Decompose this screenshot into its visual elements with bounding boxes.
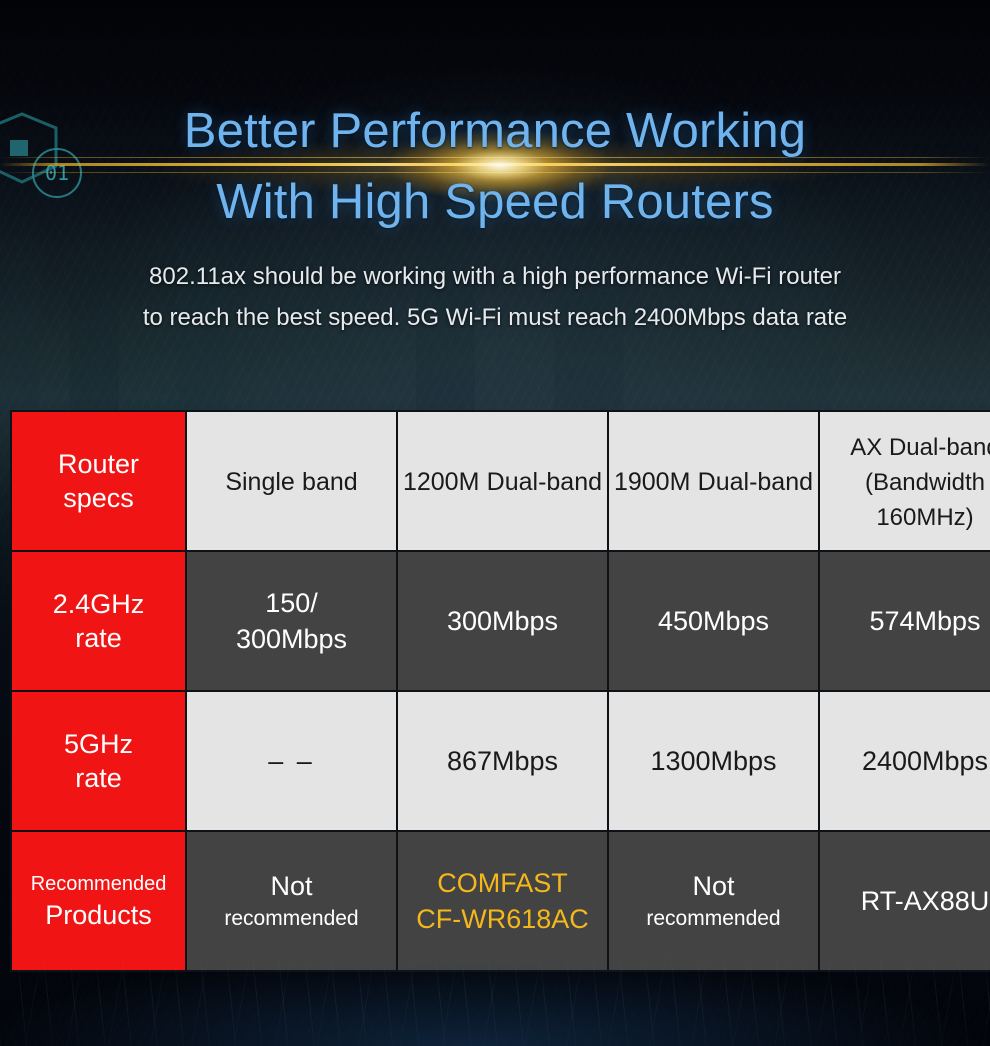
cell-24ghz-ax: 574Mbps [819,551,990,691]
column-header-line-2: band [302,468,358,496]
column-header-1200m-dual-band: 1200M Dual-band [397,411,608,551]
background-bottom-streaks [0,951,990,1046]
cell-line-1: Not [613,868,814,904]
column-header-ax-dual-band: AX Dual-band (Bandwidth 160MHz) [819,411,990,551]
hero-heading: Better Performance Working With High Spe… [0,96,990,238]
table-row: 5GHz rate – – 867Mbps 1300Mbps 2400Mbps [11,691,990,831]
hero-subtitle: 802.11ax should be working with a high p… [0,256,990,338]
cell-5ghz-1200m: 867Mbps [397,691,608,831]
cell-line-1: – – [191,743,392,779]
cell-line-1: 867Mbps [402,743,603,779]
cell-24ghz-1200m: 300Mbps [397,551,608,691]
corner-label-line-1: Router [16,447,181,481]
column-header-line-1: Single [225,468,295,496]
cell-5ghz-1900m: 1300Mbps [608,691,819,831]
row-label-line-1: 5GHz [16,727,181,761]
cell-line-1: 300Mbps [402,603,603,639]
column-header-line-1: 1900M [614,468,690,496]
cell-24ghz-1900m: 450Mbps [608,551,819,691]
table-row: 2.4GHz rate 150/ 300Mbps 300Mbps 450Mbps… [11,551,990,691]
cell-line-1: Not [191,868,392,904]
column-header-line-2: (Bandwidth [865,469,985,496]
cell-line-1: 150/ [191,585,392,621]
cell-line-1: 450Mbps [613,603,814,639]
row-label-5ghz-rate: 5GHz rate [11,691,186,831]
cell-5ghz-ax: 2400Mbps [819,691,990,831]
column-header-line-1: AX Dual-band [850,434,990,461]
cell-line-1: COMFAST [402,865,603,901]
column-header-line-3: 160MHz) [876,504,973,531]
table-header-row: Router specs Single band 1200M Dual-band… [11,411,990,551]
cell-line-1: 2400Mbps [824,743,990,779]
row-label-line-2: rate [16,761,181,795]
corner-label-line-2: specs [16,481,181,515]
cell-line-1: 574Mbps [824,603,990,639]
table-corner-label: Router specs [11,411,186,551]
column-header-line-2: Dual-band [698,468,813,496]
column-header-line-2: Dual-band [487,468,602,496]
hero-title-line-1: Better Performance Working [0,96,990,167]
column-header-1900m-dual-band: 1900M Dual-band [608,411,819,551]
hero-subtitle-line-2: to reach the best speed. 5G Wi-Fi must r… [0,297,990,338]
hero-subtitle-line-1: 802.11ax should be working with a high p… [0,256,990,297]
row-label-line-1: 2.4GHz [16,587,181,621]
column-header-single-band: Single band [186,411,397,551]
cell-line-1: 1300Mbps [613,743,814,779]
column-header-line-1: 1200M [403,468,479,496]
hero-title-line-2: With High Speed Routers [0,167,990,238]
cell-5ghz-single-band: – – [186,691,397,831]
row-label-line-2: rate [16,621,181,655]
promo-banner: 01 Better Performance Working With High … [0,0,990,1046]
cell-line-1: RT-AX88U [824,883,990,919]
cell-line-2: 300Mbps [191,621,392,657]
router-spec-table: Router specs Single band 1200M Dual-band… [10,410,990,972]
row-label-24ghz-rate: 2.4GHz rate [11,551,186,691]
cell-24ghz-single-band: 150/ 300Mbps [186,551,397,691]
row-label-line-1: Recommended [16,871,181,898]
